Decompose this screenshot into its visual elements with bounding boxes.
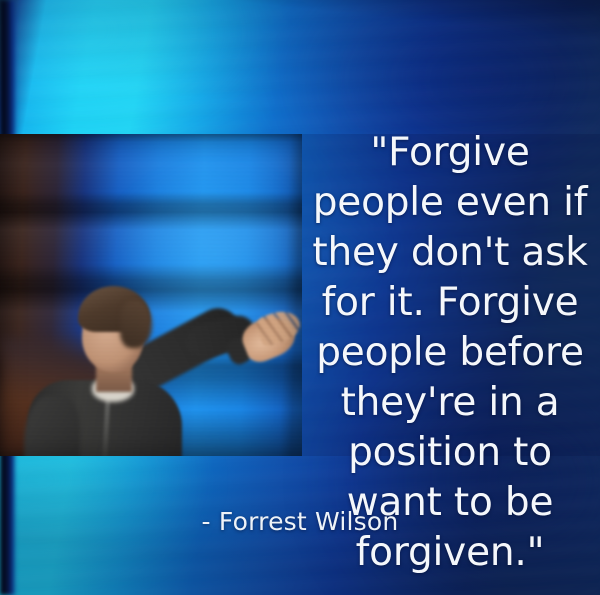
speaker-photo (0, 134, 302, 456)
quote-attribution: - Forrest Wilson (150, 505, 450, 539)
quote-graphic: "Forgive people even if they don't ask f… (0, 0, 600, 595)
photo-vignette (0, 134, 302, 456)
